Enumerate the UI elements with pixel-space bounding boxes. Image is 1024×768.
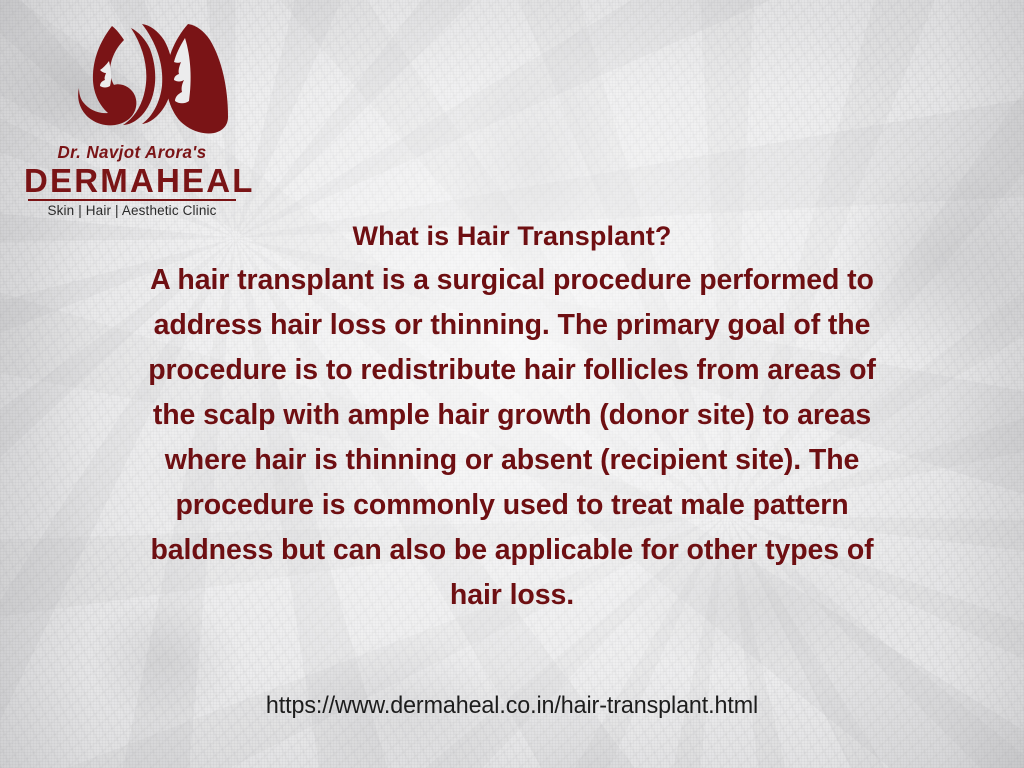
logo-underline-rule <box>28 199 236 202</box>
slide-canvas: Dr. Navjot Arora's DERMAHEAL Skin | Hair… <box>0 0 1024 768</box>
body-line: A hair transplant is a surgical procedur… <box>76 258 948 303</box>
body-line: the scalp with ample hair growth (donor … <box>76 393 948 438</box>
website-url[interactable]: https://www.dermaheal.co.in/hair-transpl… <box>15 692 1008 720</box>
clinic-logo: Dr. Navjot Arora's DERMAHEAL Skin | Hair… <box>24 18 240 219</box>
body-line: procedure is to redistribute hair follic… <box>76 348 948 393</box>
logo-doctor-line: Dr. Navjot Arora's <box>27 144 237 162</box>
body-paragraph: A hair transplant is a surgical procedur… <box>76 258 948 618</box>
body-line: procedure is commonly used to treat male… <box>76 483 948 528</box>
body-line: hair loss. <box>76 573 948 618</box>
page-title: What is Hair Transplant? <box>76 214 948 258</box>
content-block: What is Hair Transplant? A hair transpla… <box>76 214 948 618</box>
logo-brand-name: DERMAHEAL <box>24 164 240 197</box>
body-line: where hair is thinning or absent (recipi… <box>76 438 948 483</box>
body-line: baldness but can also be applicable for … <box>76 528 948 573</box>
two-face-profiles-icon <box>52 18 228 140</box>
body-line: address hair loss or thinning. The prima… <box>76 303 948 348</box>
